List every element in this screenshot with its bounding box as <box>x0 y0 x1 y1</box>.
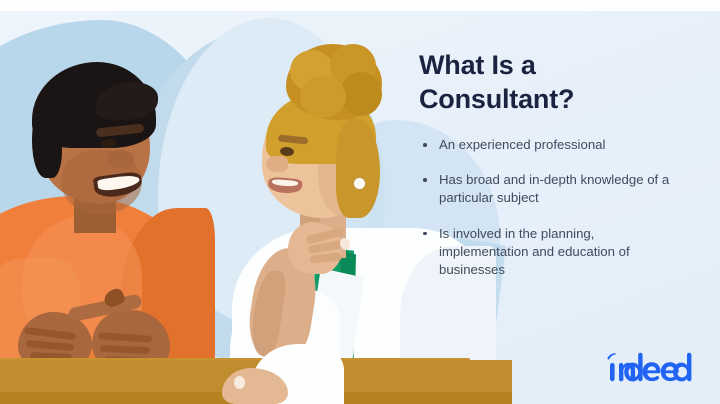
woman-resting-fingernail <box>234 376 245 389</box>
bullet-list: An experienced professional Has broad an… <box>419 136 687 279</box>
indeed-wordmark-logo-icon <box>604 352 700 386</box>
title-line-2: Consultant? <box>419 84 574 114</box>
title-line-1: What Is a <box>419 50 536 80</box>
slide-canvas: What Is a Consultant? An experienced pro… <box>0 0 720 404</box>
page-title: What Is a Consultant? <box>419 48 687 116</box>
top-white-strip <box>0 0 720 11</box>
list-item: An experienced professional <box>419 136 687 154</box>
man-nose <box>108 150 134 168</box>
woman-hair-bun-lobe <box>300 76 346 118</box>
man-teeth <box>97 174 140 192</box>
indeed-logo[interactable] <box>604 352 700 386</box>
woman-nose <box>266 156 288 172</box>
woman-pearl-earring <box>354 178 365 189</box>
woman-hair-bun-lobe <box>340 72 382 116</box>
text-panel: What Is a Consultant? An experienced pro… <box>419 48 687 296</box>
man-hair-sideburn <box>32 96 62 178</box>
list-item: Is involved in the planning, implementat… <box>419 225 687 280</box>
list-item: Has broad and in-depth knowledge of a pa… <box>419 171 687 207</box>
